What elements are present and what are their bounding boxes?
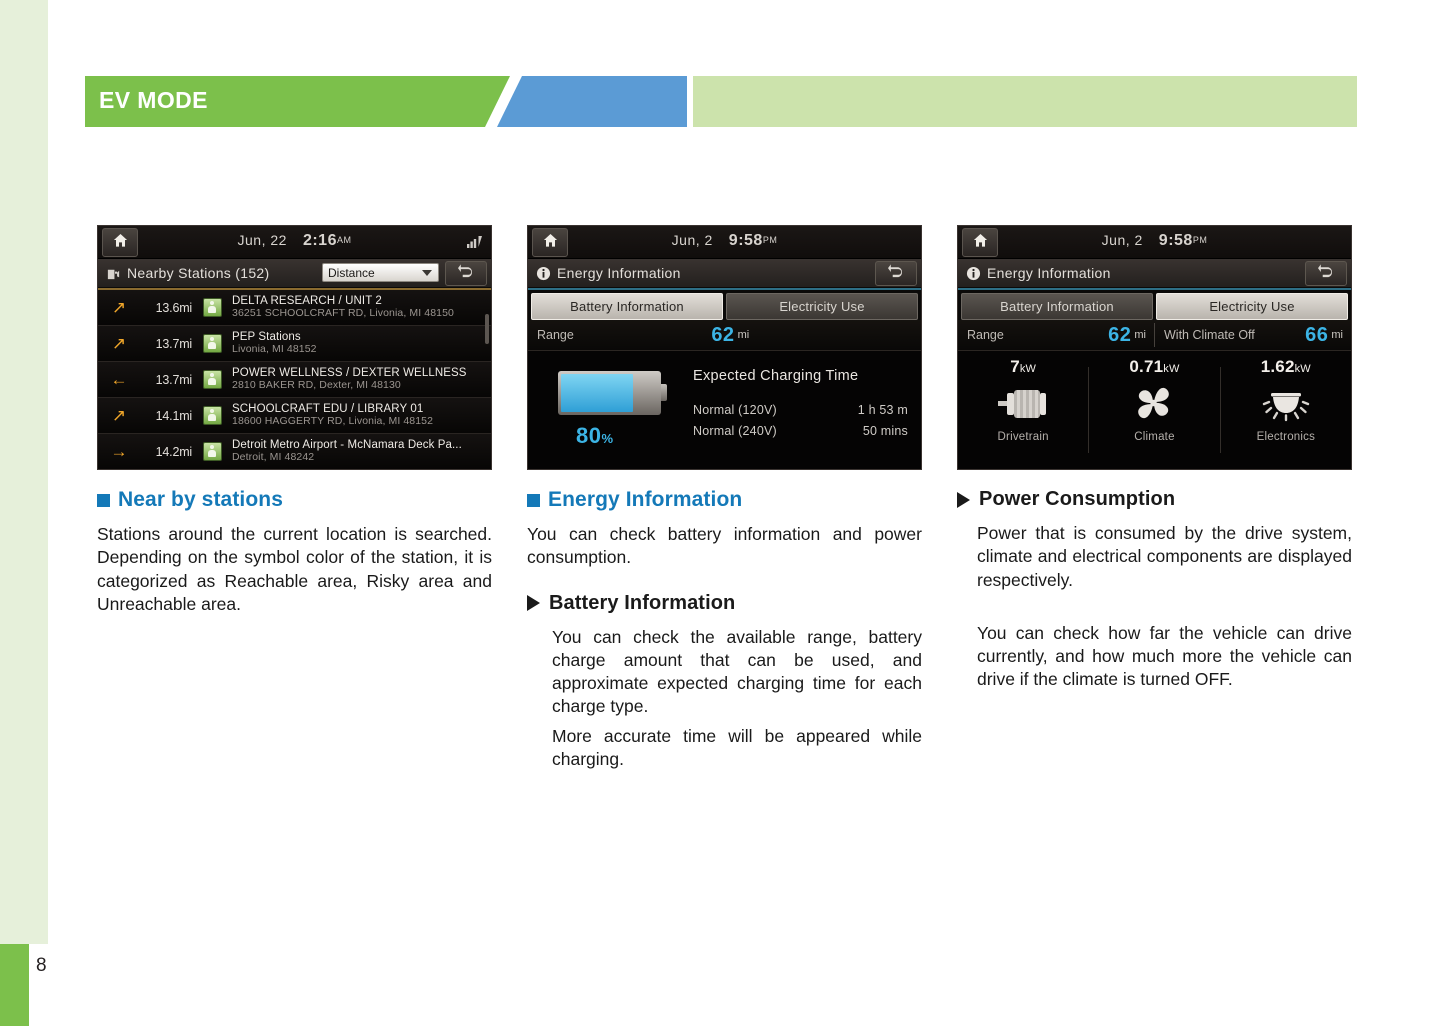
direction-arrow-icon: → <box>98 443 140 460</box>
info-icon <box>536 266 551 281</box>
status-datetime: Jun, 29:58PM <box>958 232 1351 250</box>
battery-percent-value: 80 <box>576 423 601 448</box>
station-type-icon <box>203 370 222 389</box>
status-time: 9:58 <box>1159 232 1193 249</box>
direction-arrow-icon: ← <box>98 371 140 388</box>
station-text: SCHOOLCRAFT EDU / LIBRARY 01 18600 HAGGE… <box>232 403 433 428</box>
consumer-drivetrain: 7kW Drivetrain <box>958 351 1088 469</box>
status-datetime: Jun, 222:16AM <box>98 232 491 250</box>
status-bar: Jun, 29:58PM <box>958 226 1351 259</box>
table-row[interactable]: ← 13.7mi POWER WELLNESS / DEXTER WELLNES… <box>98 362 491 398</box>
consumer-unit: kW <box>1163 363 1179 375</box>
status-date: Jun, 2 <box>1102 232 1143 248</box>
square-bullet-icon <box>97 494 110 507</box>
station-distance: 14.1mi <box>140 409 192 423</box>
heading-near-by-stations: Near by stations <box>97 488 492 512</box>
column-energy-information: Jun, 29:58PM Energy Information Battery … <box>527 225 922 771</box>
range-value: 62 <box>1108 324 1131 347</box>
charging-type: Normal (240V) <box>693 424 777 438</box>
heading-power-consumption: Power Consumption <box>957 488 1352 511</box>
status-date: Jun, 22 <box>238 232 287 248</box>
heading-text: Near by stations <box>118 488 283 512</box>
list-scrollbar[interactable] <box>485 314 489 344</box>
charging-time: 1 h 53 m <box>858 403 908 417</box>
battery-terminal <box>661 384 667 401</box>
table-row[interactable]: ↗ 13.7mi PEP Stations Livonia, MI 48152 <box>98 326 491 362</box>
screen-title: Energy Information <box>557 265 681 281</box>
paragraph-near-by-stations: Stations around the current location is … <box>97 523 492 616</box>
consumer-unit: kW <box>1295 363 1311 375</box>
column-nearby-stations: Jun, 222:16AM Nearby Stations (152) Dist… <box>97 225 492 616</box>
tab-battery-information[interactable]: Battery Information <box>961 293 1153 320</box>
station-address: Livonia, MI 48152 <box>232 344 317 356</box>
battery-percent: 80% <box>576 423 614 449</box>
range-value: 62 <box>711 324 734 347</box>
back-button[interactable] <box>875 261 917 286</box>
battery-percent-symbol: % <box>601 431 613 446</box>
consumer-name: Climate <box>1134 431 1174 443</box>
page-title: EV MODE <box>99 87 208 114</box>
tab-electricity-use[interactable]: Electricity Use <box>726 293 918 320</box>
charging-time-title: Expected Charging Time <box>693 368 858 384</box>
status-ampm: AM <box>337 235 352 245</box>
climate-off-section: With Climate Off 66 mi <box>1155 324 1351 347</box>
status-date: Jun, 2 <box>672 232 713 248</box>
heading-text: Power Consumption <box>979 488 1175 511</box>
status-time: 9:58 <box>729 232 763 249</box>
banner-lightgreen-band <box>693 76 1357 127</box>
back-arrow-icon <box>458 264 475 283</box>
charging-station-icon <box>106 266 121 281</box>
screen-title: Energy Information <box>987 265 1111 281</box>
charging-row: Normal (240V) 50 mins <box>693 424 908 438</box>
paragraph-power-consumption-2: You can check how far the vehicle can dr… <box>977 622 1352 692</box>
station-distance: 13.6mi <box>140 301 192 315</box>
consumer-climate: 0.71kW Climate <box>1089 351 1219 469</box>
range-label: Range <box>537 328 574 342</box>
consumer-electronics: 1.62kW <box>1221 351 1351 469</box>
tab-battery-information[interactable]: Battery Information <box>531 293 723 320</box>
consumer-value: 7kW <box>1010 357 1036 377</box>
left-margin-strip <box>0 0 48 944</box>
motor-icon <box>996 383 1050 425</box>
station-text: Detroit Metro Airport - McNamara Deck Pa… <box>232 439 462 464</box>
consumer-unit: kW <box>1020 363 1036 375</box>
back-arrow-icon <box>1318 264 1335 283</box>
charging-time: 50 mins <box>863 424 908 438</box>
battery-fill <box>561 374 633 412</box>
station-type-icon <box>203 406 222 425</box>
sort-dropdown[interactable]: Distance <box>322 263 439 282</box>
heading-text: Energy Information <box>548 488 742 512</box>
screen-title-bar: Energy Information <box>528 259 921 288</box>
back-button[interactable] <box>1305 261 1347 286</box>
paragraph-power-consumption-1: Power that is consumed by the drive syst… <box>977 522 1352 592</box>
screen-title-bar: Nearby Stations (152) Distance <box>98 259 491 288</box>
banner-blue-band <box>497 76 687 127</box>
signal-icon <box>467 235 483 251</box>
climate-off-value: 66 <box>1305 324 1328 347</box>
chevron-down-icon <box>422 270 432 276</box>
consumer-number: 7 <box>1010 357 1020 376</box>
direction-arrow-icon: ↗ <box>98 335 140 352</box>
fan-icon <box>1133 383 1175 425</box>
section-banner: EV MODE <box>85 76 1357 127</box>
screenshot-nearby-stations: Jun, 222:16AM Nearby Stations (152) Dist… <box>97 225 492 470</box>
heading-text: Battery Information <box>549 592 735 615</box>
station-address: 36251 SCHOOLCRAFT RD, Livonia, MI 48150 <box>232 308 454 320</box>
table-row[interactable]: ↗ 14.1mi SCHOOLCRAFT EDU / LIBRARY 01 18… <box>98 398 491 434</box>
status-datetime: Jun, 29:58PM <box>528 232 921 250</box>
status-bar: Jun, 222:16AM <box>98 226 491 259</box>
range-label: Range <box>967 328 1004 342</box>
consumer-number: 0.71 <box>1129 357 1163 376</box>
station-distance: 14.2mi <box>140 445 192 459</box>
consumer-name: Drivetrain <box>998 431 1049 443</box>
status-bar: Jun, 29:58PM <box>528 226 921 259</box>
headlamp-icon <box>1262 383 1310 425</box>
range-bar: Range 62 mi <box>528 320 921 351</box>
table-row[interactable]: → 14.2mi Detroit Metro Airport - McNamar… <box>98 434 491 470</box>
tab-bar: Battery Information Electricity Use <box>958 288 1351 320</box>
station-text: PEP Stations Livonia, MI 48152 <box>232 331 317 356</box>
triangle-bullet-icon <box>957 492 970 508</box>
station-type-icon <box>203 334 222 353</box>
screen-title: Nearby Stations (152) <box>127 265 269 281</box>
station-address: Detroit, MI 48242 <box>232 452 462 464</box>
back-arrow-icon <box>888 264 905 283</box>
back-button[interactable] <box>445 261 487 286</box>
heading-battery-information: Battery Information <box>527 592 922 615</box>
tab-electricity-use[interactable]: Electricity Use <box>1156 293 1348 320</box>
sort-dropdown-value: Distance <box>328 266 375 280</box>
heading-energy-information: Energy Information <box>527 488 922 512</box>
station-type-icon <box>203 442 222 461</box>
page-number: 8 <box>36 955 47 977</box>
screen-title-bar: Energy Information <box>958 259 1351 288</box>
battery-icon <box>558 371 661 415</box>
screenshot-battery-information: Jun, 29:58PM Energy Information Battery … <box>527 225 922 470</box>
station-distance: 13.7mi <box>140 337 192 351</box>
consumer-name: Electronics <box>1257 431 1315 443</box>
screenshot-electricity-use: Jun, 29:58PM Energy Information Battery … <box>957 225 1352 470</box>
tab-bar: Battery Information Electricity Use <box>528 288 921 320</box>
climate-off-label: With Climate Off <box>1164 328 1255 342</box>
direction-arrow-icon: ↗ <box>98 299 140 316</box>
left-margin-accent-block <box>0 944 29 1026</box>
consumer-value: 0.71kW <box>1129 357 1179 377</box>
info-icon <box>966 266 981 281</box>
status-ampm: PM <box>1193 235 1208 245</box>
station-address: 18600 HAGGERTY RD, Livonia, MI 48152 <box>232 416 433 428</box>
range-unit: mi <box>1134 329 1146 341</box>
power-consumption-panel: 7kW Drivetrain 0.71 <box>958 351 1351 469</box>
station-distance: 13.7mi <box>140 373 192 387</box>
table-row[interactable]: ↗ 13.6mi DELTA RESEARCH / UNIT 2 36251 S… <box>98 290 491 326</box>
status-ampm: PM <box>763 235 778 245</box>
column-power-consumption: Jun, 29:58PM Energy Information Battery … <box>957 225 1352 692</box>
range-section: Range 62 mi <box>958 324 1154 347</box>
charging-type: Normal (120V) <box>693 403 777 417</box>
paragraph-battery-information-2: More accurate time will be appeared whil… <box>552 725 922 772</box>
range-bar: Range 62 mi With Climate Off 66 mi <box>958 320 1351 351</box>
station-text: DELTA RESEARCH / UNIT 2 36251 SCHOOLCRAF… <box>232 295 454 320</box>
triangle-bullet-icon <box>527 595 540 611</box>
station-type-icon <box>203 298 222 317</box>
consumer-number: 1.62 <box>1261 357 1295 376</box>
consumer-value: 1.62kW <box>1261 357 1311 377</box>
climate-off-unit: mi <box>1331 329 1343 341</box>
battery-panel: 80% Expected Charging Time Normal (120V)… <box>528 351 921 469</box>
paragraph-energy-information: You can check battery information and po… <box>527 523 922 570</box>
range-unit: mi <box>738 329 750 341</box>
paragraph-battery-information-1: You can check the available range, batte… <box>552 626 922 719</box>
square-bullet-icon <box>527 494 540 507</box>
direction-arrow-icon: ↗ <box>98 407 140 424</box>
charging-row: Normal (120V) 1 h 53 m <box>693 403 908 417</box>
station-text: POWER WELLNESS / DEXTER WELLNESS 2810 BA… <box>232 367 467 392</box>
nearby-stations-list[interactable]: ↗ 13.6mi DELTA RESEARCH / UNIT 2 36251 S… <box>98 288 491 470</box>
station-address: 2810 BAKER RD, Dexter, MI 48130 <box>232 380 467 392</box>
status-time: 2:16 <box>303 232 337 249</box>
